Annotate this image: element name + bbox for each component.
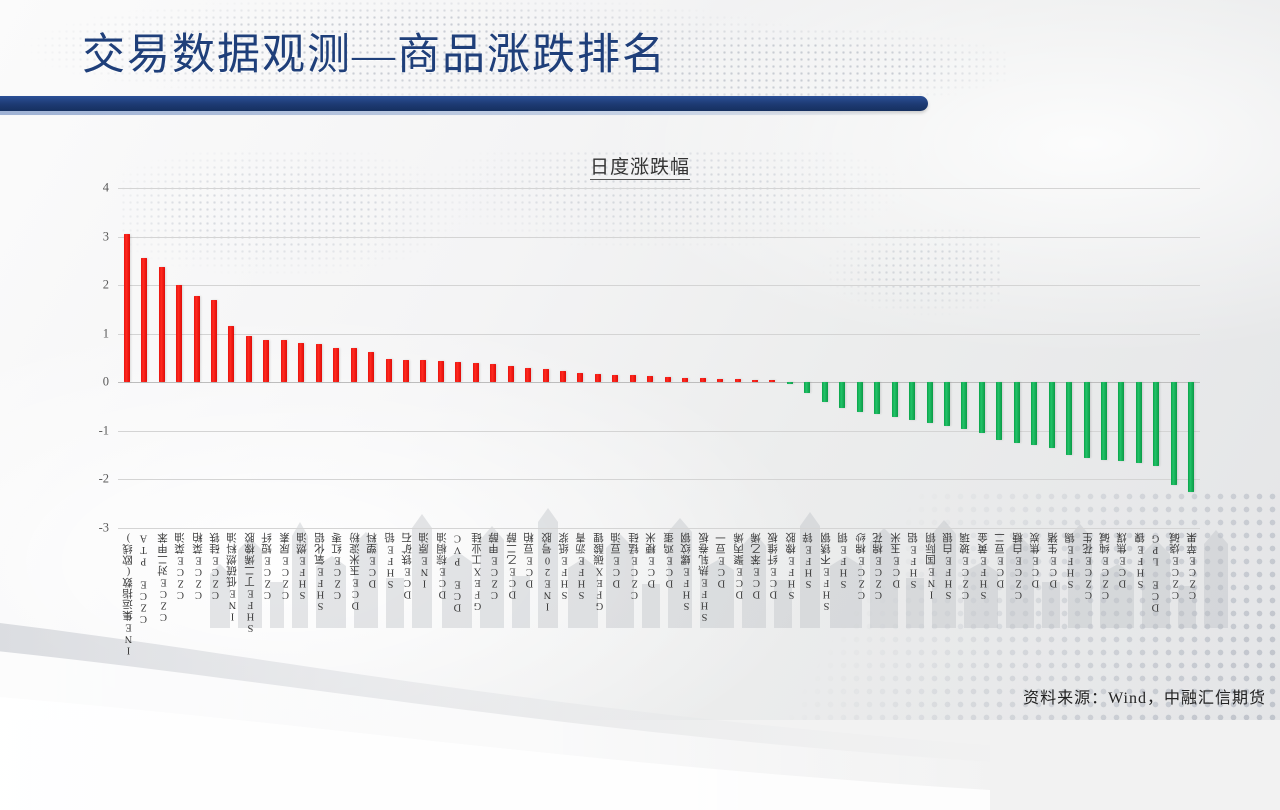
x-axis-label: DCE生猪 [1046, 532, 1061, 589]
x-axis-label: CZCE对二甲苯 [156, 532, 171, 622]
chart-title: 日度涨跌幅 [0, 152, 1280, 179]
bar [717, 379, 723, 382]
x-axis-label: CZCE苹果 [1185, 532, 1200, 600]
bar [246, 336, 252, 382]
chart-bars [118, 188, 1200, 528]
bar [1136, 382, 1142, 463]
slide-canvas: 交易数据观测—商品涨跌排名 日度涨跌幅 43210-1-2-3 INE集运指数(… [0, 0, 1280, 720]
bar [281, 340, 287, 383]
bar [647, 376, 653, 382]
bar [595, 374, 601, 383]
bar [787, 382, 793, 384]
bar [351, 348, 357, 382]
y-axis-tick-label: -1 [99, 423, 109, 438]
x-axis-label: DCE豆二 [993, 532, 1008, 589]
x-axis-label: DCE棕榈油 [435, 532, 450, 600]
x-axis-label: CZCE硅铁 [208, 532, 223, 600]
bar [1188, 382, 1194, 492]
x-axis-label: CZCE菜粕 [191, 532, 206, 600]
x-axis-label: SHFE热轧卷板 [697, 532, 712, 622]
x-axis-label: SHFE不锈钢 [819, 532, 834, 611]
y-axis-tick-label: -2 [99, 472, 109, 487]
x-axis-label: SHFE锌 [801, 532, 816, 589]
chart-title-text: 日度涨跌幅 [590, 157, 690, 180]
x-axis-label: CZCE红枣 [330, 532, 345, 600]
bar [839, 382, 845, 407]
bar [1031, 382, 1037, 445]
bar [1101, 382, 1107, 460]
x-axis-label: DCE玉米淀粉 [348, 532, 363, 611]
bar [1171, 382, 1177, 485]
source-note: 资料来源：Wind，中融汇信期货 [1023, 684, 1266, 708]
x-axis-label: DCE聚丙烯 [732, 532, 747, 600]
x-axis-label: SHFE螺纹钢 [679, 532, 694, 611]
x-axis-label: SHFE燃油 [295, 532, 310, 600]
bar [752, 380, 758, 382]
x-axis-label: CZCE白糖 [1011, 532, 1026, 600]
x-axis-label: SHFE锡 [1063, 532, 1078, 589]
bar [630, 375, 636, 382]
x-axis-label: DCE塑料 [365, 532, 380, 589]
x-axis-label: CZCE尿素 [278, 532, 293, 600]
bar [996, 382, 1002, 439]
bar [961, 382, 967, 429]
x-axis-label: CZCE棉花 [871, 532, 886, 600]
x-axis-label: DCE豆粕 [522, 532, 537, 589]
bar [665, 377, 671, 382]
bar [386, 359, 392, 382]
x-axis-label: DCE苯乙烯 [749, 532, 764, 600]
bar [194, 296, 200, 382]
x-axis-label: DCE玉米 [889, 532, 904, 589]
y-axis-tick-label: 0 [103, 375, 109, 390]
bar [228, 326, 234, 382]
x-axis-label: INE原油 [417, 532, 432, 589]
x-axis-label: INE20号胶 [540, 532, 555, 612]
x-axis-label: INE低硫燃料油 [225, 532, 240, 622]
bar [804, 382, 810, 393]
y-axis-tick-label: 1 [103, 326, 109, 341]
x-axis-label: CZCE短纤 [260, 532, 275, 600]
bar [263, 340, 269, 383]
x-axis-label: DCE豆油 [609, 532, 624, 589]
bar [612, 375, 618, 383]
x-axis-label: CZCE花生 [1081, 532, 1096, 600]
x-axis-label: SHFE纸浆 [557, 532, 572, 600]
y-axis-tick-label: 4 [103, 181, 109, 196]
y-axis-tick-label: 2 [103, 278, 109, 293]
x-axis-label: CZCE纯碱 [1098, 532, 1113, 600]
bar [473, 363, 479, 382]
chart-plot-area: 43210-1-2-3 [118, 188, 1200, 528]
bar [525, 368, 531, 383]
bar [892, 382, 898, 417]
x-axis-label: SHFE氧化铝 [313, 532, 328, 611]
bar [1153, 382, 1159, 466]
x-axis-label: CZCE锰硅 [627, 532, 642, 600]
x-axis-label: SHFE镍 [1133, 532, 1148, 589]
bar [1118, 382, 1124, 461]
bar [543, 369, 549, 383]
bar [560, 371, 566, 383]
x-axis-label: GFEX工业硅 [470, 532, 485, 611]
x-axis-label: DCE焦煤 [1115, 532, 1130, 589]
bar [769, 380, 775, 382]
bar [490, 364, 496, 382]
x-axis-label: DCE PVC [452, 532, 463, 613]
x-axis-label: SHFE铜 [836, 532, 851, 589]
bar [211, 300, 217, 383]
bar [438, 361, 444, 382]
x-axis-label: SHFE沥青 [574, 532, 589, 600]
bar [927, 382, 933, 423]
bar [124, 234, 130, 382]
title-underline-bar [0, 96, 928, 111]
bar [1084, 382, 1090, 458]
bar [944, 382, 950, 426]
bar [508, 366, 514, 383]
x-axis-label: DCE LPG [1150, 532, 1161, 613]
x-axis-label: CZCE甲醇 [487, 532, 502, 600]
bar [1066, 382, 1072, 455]
x-axis-label: CZCE菜油 [173, 532, 188, 600]
x-axis-label: SHFE丁二烯橡胶 [243, 532, 258, 633]
bar [316, 344, 322, 382]
x-axis-label: SHFE白银 [941, 532, 956, 600]
x-axis-label: CZCE PTA [138, 532, 149, 624]
bar [979, 382, 985, 433]
x-axis-label: CZCE棉纱 [854, 532, 869, 600]
x-axis-label: CZCE玻璃 [958, 532, 973, 600]
bar [159, 267, 165, 383]
x-axis-label: DCE鸡蛋 [662, 532, 677, 589]
x-axis-label: DCE纤维板 [766, 532, 781, 600]
bar [403, 360, 409, 382]
bar [420, 360, 426, 382]
bar [141, 258, 147, 382]
bar [368, 352, 374, 382]
bar [700, 378, 706, 382]
x-axis-label: GFEX碳酸锂 [592, 532, 607, 611]
bar [822, 382, 828, 401]
x-axis-label: INE集运指数(欧线) [121, 532, 136, 656]
y-axis-tick-label: -3 [99, 521, 109, 536]
bar [857, 382, 863, 412]
x-axis-label: DCE粳米 [644, 532, 659, 589]
x-axis-label: SHFE铅 [383, 532, 398, 589]
chart-x-axis-labels: INE集运指数(欧线)CZCE PTACZCE对二甲苯CZCE菜油CZCE菜粕C… [118, 528, 1200, 708]
bar [909, 382, 915, 420]
bar [176, 285, 182, 382]
y-axis-tick-label: 3 [103, 229, 109, 244]
x-axis-label: SHFE黄金 [976, 532, 991, 600]
x-axis-label: DCE焦炭 [1028, 532, 1043, 589]
bar [874, 382, 880, 414]
bar [1014, 382, 1020, 442]
x-axis-label: SHFE铝 [906, 532, 921, 589]
x-axis-label: INE国际铜 [924, 532, 939, 600]
x-axis-label: DCE铁矿石 [400, 532, 415, 600]
page-title: 交易数据观测—商品涨跌排名 [82, 34, 667, 77]
x-axis-label: SHFE橡胶 [784, 532, 799, 600]
bar [577, 373, 583, 383]
bar [735, 379, 741, 382]
bar [682, 378, 688, 382]
bar [455, 362, 461, 382]
bar [1049, 382, 1055, 448]
x-axis-label: DCE乙二醇 [505, 532, 520, 600]
x-axis-label: CZCE烧碱 [1168, 532, 1183, 600]
bar [298, 343, 304, 382]
bar [333, 348, 339, 382]
x-axis-label: DCE豆一 [714, 532, 729, 589]
daily-change-bar-chart: 日度涨跌幅 43210-1-2-3 INE集运指数(欧线)CZCE PTACZC… [0, 150, 1280, 550]
